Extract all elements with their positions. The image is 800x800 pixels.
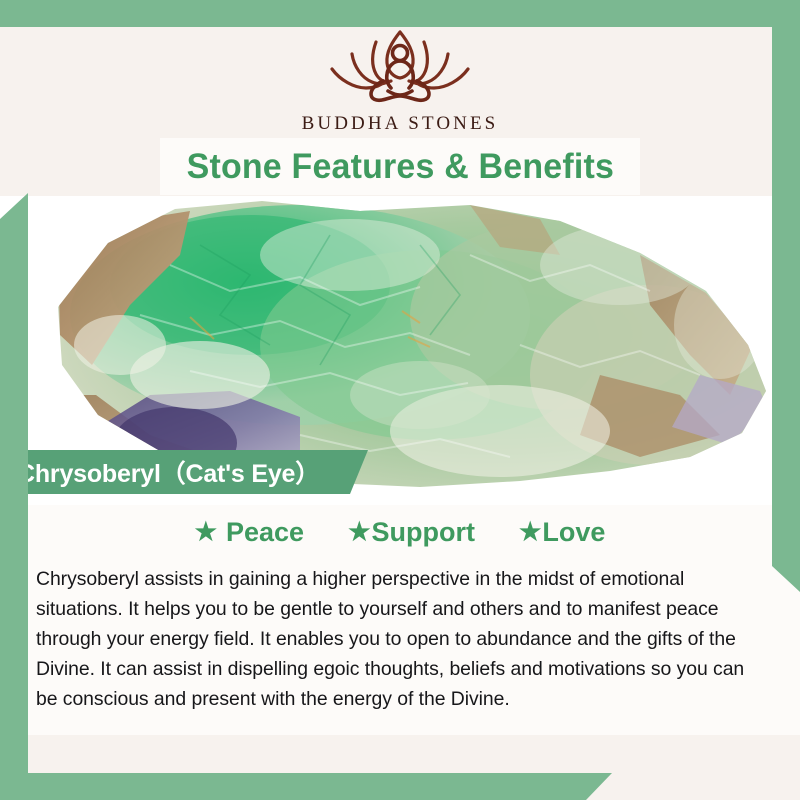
frame-right-band xyxy=(772,0,800,592)
description-text: Chrysoberyl assists in gaining a higher … xyxy=(36,564,770,714)
benefit-badge-peace: ★ Peace xyxy=(195,517,305,548)
stone-name-banner: Chrysoberyl（Cat's Eye） xyxy=(0,450,368,494)
benefit-label-love: Love xyxy=(542,517,605,548)
frame-left-band xyxy=(0,193,28,800)
page-title: Stone Features & Benefits xyxy=(186,147,613,187)
brand-logo: BUDDHA STONES xyxy=(0,22,800,135)
benefit-label-support: Support xyxy=(371,517,474,548)
frame-top-band xyxy=(0,0,800,27)
page-title-box: Stone Features & Benefits xyxy=(160,138,640,195)
benefit-badge-support: ★ Support xyxy=(348,517,475,548)
infographic-card: BUDDHA STONES xyxy=(0,0,800,800)
star-icon: ★ xyxy=(195,520,217,545)
stone-name-label: Chrysoberyl（Cat's Eye） xyxy=(0,454,320,490)
benefit-badge-love: ★ Love xyxy=(519,517,605,548)
star-icon: ★ xyxy=(348,520,370,545)
brand-name: BUDDHA STONES xyxy=(302,113,499,135)
frame-bottom-band xyxy=(0,773,612,800)
benefit-badges: ★ Peace ★ Support ★ Love xyxy=(0,505,800,548)
benefit-label-peace: Peace xyxy=(226,517,304,548)
star-icon: ★ xyxy=(519,520,541,545)
lotus-meditating-figure-icon xyxy=(314,22,486,110)
description-section: ★ Peace ★ Support ★ Love Chrysoberyl ass… xyxy=(0,505,800,735)
